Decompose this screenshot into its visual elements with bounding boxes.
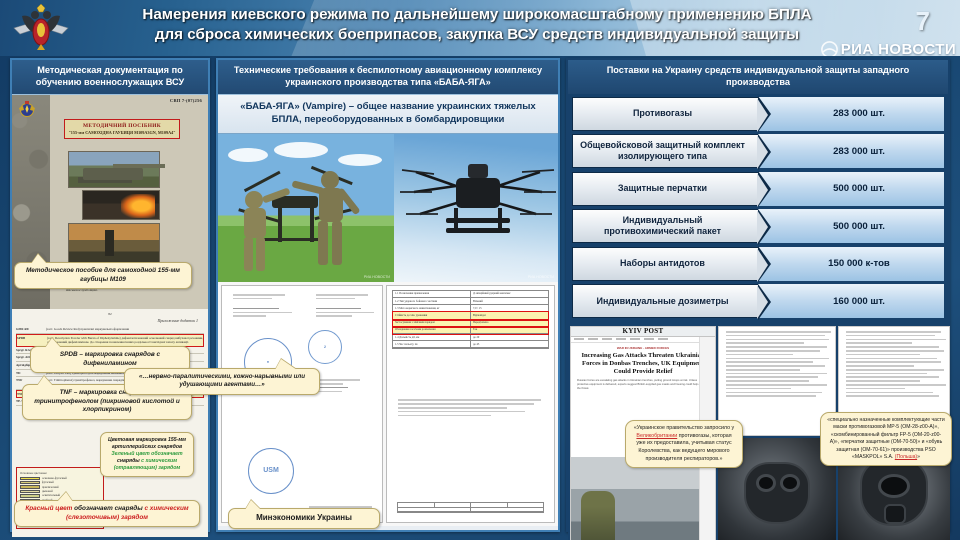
cell-value: 7,0 / 15 [471,305,548,311]
supply-value: 500 000 шт. [758,209,944,243]
slide-root: Намерения киевского режима по дальнейшем… [0,0,960,540]
cell-blank5 [398,508,471,511]
nav-item-icon [602,338,612,340]
slide-number: 7 [916,6,930,37]
hexacopter-vector [394,134,558,282]
requirements-table: 1.1 Позначення призначенняД авіаційний у… [392,290,549,350]
ria-globe-icon [821,41,838,56]
cell-param: 1.1 Позначення призначення [393,291,471,297]
cell-value: до 45 [471,341,548,347]
callout-line1: Цветовая маркировка 155-мм артиллерийски… [108,437,186,450]
supply-label: Общевойсковой защитный комплект изолирую… [572,134,758,168]
callout-uk-gas-masks: «Украинское правительство запросило у Ве… [625,420,743,468]
callout-tail [275,359,297,370]
callout-text: Методическое пособие для самоходной 155-… [21,267,185,284]
cell-blank [398,503,435,506]
legend-item: практический [20,485,100,488]
table-row: Наборы антидотов 150 000 к-тов [572,247,944,281]
table-row: Общевойсковой защитный комплект изолирую… [572,134,944,168]
table-row: 1.4 Дальність дії, кмдо 20 [393,334,548,341]
table-row: 1.3 Маса корисного навантаження, кг7,0 /… [393,305,548,312]
mask-filter-canister [884,504,906,524]
table-row-highlighted: Застосування з хімічним зарядомПередбаче… [393,320,548,327]
mid-panel: Технические требования к беспилотному ав… [216,58,560,532]
table-row-highlighted: Стійкість до хім. ураженняВідповідає [393,312,548,319]
soldier-in-trench-photo [571,457,715,540]
mid-panel-title: Технические требования к беспилотному ав… [218,60,558,95]
cover-doc-code: СВП 7-(07)256 [170,98,202,103]
abbr-value: (заст. Description Powder with Bursts of… [47,336,203,345]
legend-swatch [20,485,40,488]
callout-text: «Украинское правительство запросило у Ве… [632,425,736,463]
supply-label: Противогазы [572,97,758,131]
callout-text: Красный цвет обозначает снаряды с химиче… [21,505,193,522]
kyiv-post-kicker: WAR IN UKRAINE · ARMED FORCES [571,346,715,350]
footer-table [397,502,544,512]
callout-text: Минэкономики Украины [235,513,373,524]
howitzer-sunset-photo-3 [68,223,160,263]
table-row: Защитные перчатки 500 000 шт. [572,172,944,206]
howitzer-firing-photo-2 [82,190,160,220]
cover-title-line1: МЕТОДИЧНИЙ ПОСІБНИК [67,123,177,129]
callout-poland-text: «специально назначенные комплектующие ча… [827,417,944,460]
round-stamp-2: 2 [308,330,342,364]
callout-text: SPDB – маркировка снарядов с дифениламин… [37,351,183,368]
usm-stamp: USM [248,448,294,494]
legend-label: практический [42,486,59,489]
mask-lens-left [756,474,776,492]
supply-value: 160 000 шт. [758,284,944,318]
kyiv-post-logo: KYIV POST [623,327,664,335]
howitzer-photo-1 [68,151,160,188]
left-panel-title: Методическая документация по обучению во… [12,60,208,95]
table-row: 1.5 Час польоту, хвдо 45 [393,341,548,348]
callout-line2: Зеленый цвет обозначает [111,451,182,457]
document-scans: ● 2 USM 1.1 Позначення призначенняД авіа… [218,282,558,526]
abbr-key: GMF-RU [16,327,42,332]
callout-text: «…нервно-паралитическими, кожно-нарывным… [131,373,313,390]
table-row: Индивидуальные дозиметры 160 000 шт. [572,284,944,318]
cell-param: Стійкість до хім. ураження [393,312,471,318]
kyiv-post-dek: Russian forces are escalating gas attack… [571,376,715,394]
usm-stamp-text: USM [263,467,279,474]
cell-value: Передбачено [471,320,548,326]
legend-label: дымовой [42,490,53,493]
cell-blank4 [508,503,544,506]
page-title-line1: Намерения киевского режима по дальнейшем… [82,5,872,25]
callout-poland-country: (Польша) [895,454,917,460]
callout-red-1: Красный цвет [25,505,72,512]
callout-tail [37,376,53,386]
cell-value: Д авіаційний ударний комплекс [471,291,548,297]
drone-photos: РИА НОВОСТИ [218,134,558,282]
callout-text: Цветовая маркировка 155-мм артиллерийски… [107,437,187,472]
callout-uk-country: Великобритании [636,433,677,439]
table-row: 1.1 Позначення призначенняД авіаційний у… [393,291,548,298]
soldiers-carrying-heavy-drone-photo: РИА НОВОСТИ [218,134,394,282]
mask-body-shape [744,462,810,524]
ria-novosti-label: РИА НОВОСТИ [841,41,956,56]
cell-value: Відповідає [471,312,548,318]
kyiv-post-masthead-bar: KYIV POST [571,327,715,337]
table-row-highlighted: Обладнання засобами розпиленняТак [393,327,548,334]
hexacopter-drone-in-flight-photo: РИА НОВОСТИ [394,134,558,282]
cell-blank2 [435,503,472,506]
table-row: 1.2 Тип ударного бойового частиниВільний [393,298,548,305]
callout-uk-line2: запросило у [704,425,734,431]
callout-chemical-agents-quote: «…нервно-паралитическими, кожно-нарывным… [124,368,320,395]
nav-item-icon [574,338,584,340]
callout-uk-line1: «Украинское правительство [634,425,703,431]
photo-watermark-right: РИА НОВОСТИ [528,275,554,279]
drone-and-soldiers-vector [218,134,394,282]
cell-param: 1.3 Маса корисного навантаження, кг [393,305,471,311]
cell-blank3 [471,503,508,506]
table-row [398,508,543,512]
callout-line3: снаряды [117,458,141,464]
photo-watermark: РИА НОВОСТИ [364,275,390,279]
abbr-value: (заст. Goods Review Red) практичні марку… [46,327,204,332]
nav-item-icon [588,338,598,340]
callout-manual-m109: Методическое пособие для самоходной 155-… [14,262,192,289]
callout-tail [45,338,61,348]
technical-requirements-table-scan: 1.1 Позначення призначенняД авіаційний у… [386,285,555,523]
table-row: Противогазы 283 000 шт. [572,97,944,131]
legend-swatch [20,477,40,480]
supply-label: Индивидуальные дозиметры [572,284,758,318]
ukraine-armed-forces-emblem-icon [16,99,38,121]
cell-value: Так [471,327,548,333]
cell-param: Застосування з хімічним зарядом [393,320,471,326]
slide-header: Намерения киевского режима по дальнейшем… [0,0,960,56]
callout-tail [31,254,47,264]
cell-blank6 [471,508,543,511]
nav-item-icon [616,338,626,340]
cell-value: до 20 [471,334,548,340]
callout-maskpol-poland: «специально назначенные комплектующие ча… [820,412,952,466]
legend-swatch [20,490,40,493]
supply-value: 150 000 к-тов [758,247,944,281]
callout-tail [245,500,261,510]
legend-item: фугасный [20,481,100,484]
callout-tail [57,492,73,502]
legend-item: осколково-фугасный [20,477,100,480]
callout-color-marking: Цветовая маркировка 155-мм артиллерийски… [100,432,194,477]
cell-param: 1.4 Дальність дії, км [393,334,471,340]
cover-title-line2: "155-мм САМОХІДНА ГАУБИЦЯ M109A3GN, M109… [67,130,177,135]
cell-value: Вільний [471,298,548,304]
page-number-label: 82 [16,312,204,316]
supply-value: 500 000 шт. [758,172,944,206]
ria-novosti-watermark: РИА НОВОСТИ [821,41,956,56]
kyiv-post-headline: Increasing Gas Attacks Threaten Ukrainia… [571,352,715,376]
callout-text: «специально назначенные комплектующие ча… [827,417,945,461]
cell-param: 1.5 Час польоту, хв [393,341,471,347]
nav-item-icon [630,338,640,340]
mask-lens-right [780,474,800,492]
legend-swatch [20,481,40,484]
legend-title: Основные цветовые: [20,471,100,475]
cell-param: Обладнання засобами розпилення [393,327,471,333]
right-panel-title: Поставки на Украину средств индивидуальн… [568,60,948,94]
supply-table: Противогазы 283 000 шт. Общевойсковой за… [568,94,948,324]
nav-item-icon [644,338,654,340]
russian-mod-eagle-emblem [10,4,72,54]
callout-ministry-of-economy: Минэкономики Украины [228,508,380,529]
callout-mid: обозначает снаряды [72,505,144,512]
cover-title-box: МЕТОДИЧНИЙ ПОСІБНИК "155-мм САМОХІДНА ГА… [64,119,180,139]
supply-value: 283 000 шт. [758,97,944,131]
page-title: Намерения киевского режима по дальнейшем… [82,5,872,45]
ukrainian-certificate-scan: ● 2 USM [221,285,383,523]
mask-visor [878,474,910,498]
callout-red-marking: Красный цвет обозначает снаряды с химиче… [14,500,200,527]
supply-label: Защитные перчатки [572,172,758,206]
nav-item-icon [658,338,668,340]
legend-label: осколково-фугасный [42,477,67,480]
mid-panel-subtitle: «БАБА-ЯГА» (Vampire) – общее название ук… [218,95,558,134]
callout-poland-tail: » [917,454,920,460]
supply-value: 283 000 шт. [758,134,944,168]
supply-label: Индивидуальный противохимический пакет [572,209,758,243]
page-title-line2: для сброса химических боеприпасов, закуп… [82,25,872,45]
abbr-key: SPDB [17,336,43,345]
supply-label: Наборы антидотов [572,247,758,281]
legend-label: фугасный [42,481,54,484]
kyiv-post-nav [571,337,715,343]
table-row: Индивидуальный противохимический пакет 5… [572,209,944,243]
appendix-label: Приложение додаток 1 [16,318,198,323]
legend-swatch [20,494,40,497]
table-row: GMF-RU(заст. Goods Review Red) практичні… [16,326,204,334]
cell-param: 1.2 Тип ударного бойового частини [393,298,471,304]
